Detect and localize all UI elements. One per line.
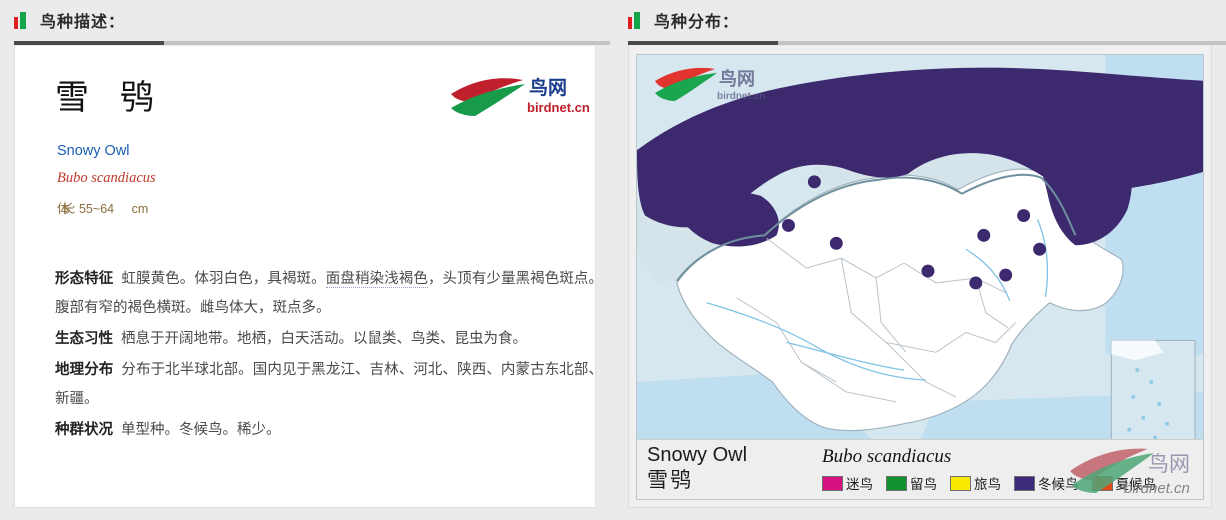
paragraph-label-population: 种群状况 bbox=[55, 422, 113, 438]
svg-text:birdnet.cn: birdnet.cn bbox=[717, 91, 765, 102]
legend-swatch-passage bbox=[950, 476, 971, 491]
legend-swatch-resident bbox=[886, 476, 907, 491]
species-length: 体长: 55~64 cm bbox=[57, 198, 569, 217]
map-caption-latin: Bubo scandiacus bbox=[822, 446, 951, 468]
morphology-text-underlined: 面盘稍染浅褐色 bbox=[326, 271, 428, 288]
paragraph-habits: 生态习性栖息于开阔地带。地栖，白天活动。以鼠类、鸟类、昆虫为食。 bbox=[55, 325, 603, 354]
map-watermark-logo-svg: 鸟网 birdnet.cn bbox=[653, 63, 773, 111]
legend-item-passage: 旅鸟 bbox=[950, 473, 1001, 493]
length-unit: cm bbox=[132, 202, 149, 216]
distribution-map-card: 鸟网 birdnet.cn Snowy Owl 雪鸮 Bubo scandiac… bbox=[628, 46, 1212, 508]
left-panel-title: 鸟种描述： bbox=[40, 8, 125, 32]
bird-distribution-panel: 鸟种分布： bbox=[610, 0, 1226, 520]
svg-text:鸟网: 鸟网 bbox=[1148, 452, 1190, 476]
length-label: 体长 bbox=[57, 202, 66, 216]
map-caption: Snowy Owl 雪鸮 Bubo scandiacus 迷鸟 留鸟 bbox=[637, 439, 1203, 499]
left-header-rule bbox=[14, 41, 610, 45]
legend-item-resident: 留鸟 bbox=[886, 473, 937, 493]
paragraph-label-habits: 生态习性 bbox=[55, 331, 113, 347]
paragraph-morphology: 形态特征虹膜黄色。体羽白色，具褐斑。面盘稍染浅褐色，头顶有少量黑褐色斑点。腹部有… bbox=[55, 265, 603, 323]
map-point bbox=[921, 265, 934, 278]
map-caption-cn: 雪鸮 bbox=[647, 468, 747, 493]
bar-chart-icon bbox=[628, 12, 644, 29]
legend-swatch-winter bbox=[1014, 476, 1035, 491]
distribution-text: 分布于北半球北部。国内见于黑龙江、吉林、河北、陕西、内蒙古东北部、新疆。 bbox=[55, 362, 603, 407]
caption-watermark-logo-svg: 鸟网 birdnet.cn bbox=[1066, 445, 1201, 499]
left-panel-header: 鸟种描述： bbox=[0, 0, 610, 48]
map-point bbox=[969, 277, 982, 290]
paragraph-label-morphology: 形态特征 bbox=[55, 271, 113, 287]
paragraph-distribution: 地理分布分布于北半球北部。国内见于黑龙江、吉林、河北、陕西、内蒙古东北部、新疆。 bbox=[55, 356, 603, 414]
map-point bbox=[999, 269, 1012, 282]
bird-description-panel: 鸟种描述： 雪 鸮 Snowy Owl Bubo scandiacus 体长: … bbox=[0, 0, 610, 520]
habits-text: 栖息于开阔地带。地栖，白天活动。以鼠类、鸟类、昆虫为食。 bbox=[121, 331, 527, 347]
legend-item-vagrant: 迷鸟 bbox=[822, 473, 873, 493]
svg-text:鸟网: 鸟网 bbox=[529, 76, 567, 99]
right-header-rule bbox=[628, 41, 1226, 45]
legend-label-passage: 旅鸟 bbox=[974, 473, 1001, 493]
right-panel-title: 鸟种分布： bbox=[654, 8, 739, 32]
population-text: 单型种。冬候鸟。稀少。 bbox=[121, 422, 281, 438]
legend-label-vagrant: 迷鸟 bbox=[846, 473, 873, 493]
map-graphic bbox=[637, 55, 1203, 499]
svg-text:birdnet.cn: birdnet.cn bbox=[1124, 480, 1190, 497]
distribution-map[interactable]: 鸟网 birdnet.cn Snowy Owl 雪鸮 Bubo scandiac… bbox=[636, 54, 1204, 500]
paragraph-population: 种群状况单型种。冬候鸟。稀少。 bbox=[55, 416, 603, 445]
morphology-text-before: 虹膜黄色。体羽白色，具褐斑。 bbox=[121, 271, 325, 287]
description-card: 雪 鸮 Snowy Owl Bubo scandiacus 体长: 55~64 … bbox=[14, 46, 596, 508]
map-watermark-logo: 鸟网 birdnet.cn bbox=[653, 63, 773, 111]
map-point bbox=[1017, 209, 1030, 222]
length-value: 55~64 bbox=[79, 202, 114, 216]
description-paragraphs: 形态特征虹膜黄色。体羽白色，具褐斑。面盘稍染浅褐色，头顶有少量黑褐色斑点。腹部有… bbox=[55, 265, 603, 445]
paragraph-label-distribution: 地理分布 bbox=[55, 362, 113, 378]
caption-watermark-logo: 鸟网 birdnet.cn bbox=[1066, 445, 1201, 499]
map-caption-names: Snowy Owl 雪鸮 bbox=[647, 443, 747, 493]
species-name-latin: Bubo scandiacus bbox=[57, 170, 569, 187]
svg-text:birdnet.cn: birdnet.cn bbox=[527, 100, 589, 115]
right-panel-header: 鸟种分布： bbox=[614, 0, 1226, 48]
length-sep: : bbox=[72, 202, 75, 216]
bar-chart-icon bbox=[14, 12, 30, 29]
map-point bbox=[977, 229, 990, 242]
map-point bbox=[782, 219, 795, 232]
map-point bbox=[808, 175, 821, 188]
birdnet-logo: 鸟网 birdnet.cn bbox=[449, 72, 589, 126]
svg-text:鸟网: 鸟网 bbox=[719, 68, 755, 90]
map-caption-en: Snowy Owl bbox=[647, 443, 747, 468]
map-point bbox=[830, 237, 843, 250]
species-name-en: Snowy Owl bbox=[57, 143, 569, 159]
page-root: 鸟种描述： 雪 鸮 Snowy Owl Bubo scandiacus 体长: … bbox=[0, 0, 1226, 520]
map-point bbox=[1033, 243, 1046, 256]
legend-swatch-vagrant bbox=[822, 476, 843, 491]
birdnet-logo-svg: 鸟网 birdnet.cn bbox=[449, 72, 589, 126]
legend-label-resident: 留鸟 bbox=[910, 473, 937, 493]
